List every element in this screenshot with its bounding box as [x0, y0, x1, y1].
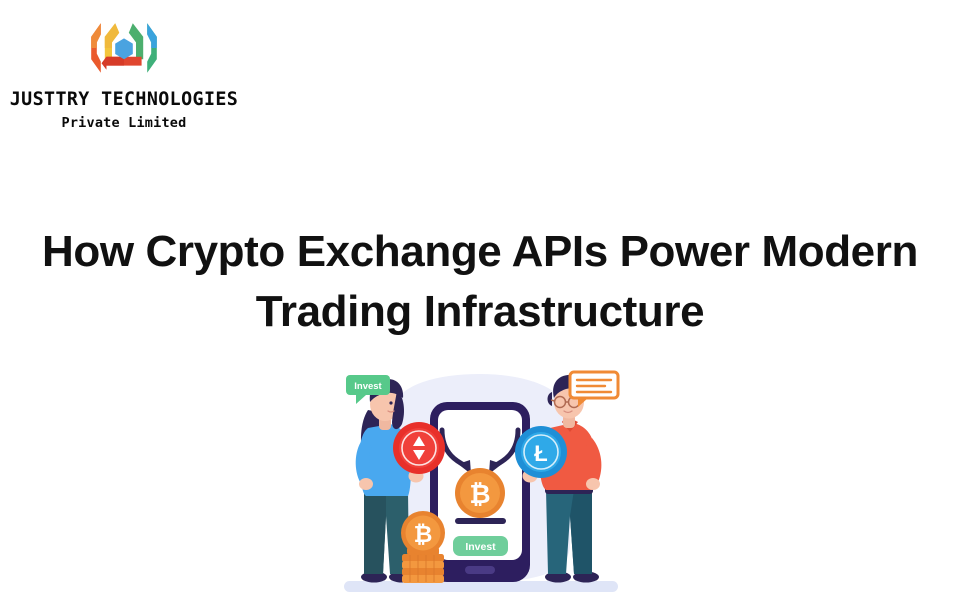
svg-text:₿: ₿ — [469, 479, 490, 509]
coin-platform — [455, 518, 506, 524]
svg-text:₿: ₿ — [414, 521, 433, 547]
bitcoin-coin-stack: ₿ — [401, 511, 445, 555]
bitcoin-coin-screen: ₿ — [455, 468, 505, 518]
invest-cta-button[interactable]: Invest — [453, 536, 508, 556]
article-header-page: JUSTTRY TECHNOLOGIES Private Limited How… — [0, 0, 960, 600]
invest-cta-label: Invest — [465, 541, 496, 553]
litecoin-coin: Ł — [515, 426, 567, 478]
crypto-exchange-illustration-svg: ₿ Invest — [334, 366, 626, 600]
page-title: How Crypto Exchange APIs Power Modern Tr… — [0, 222, 960, 342]
brand-name: JUSTTRY TECHNOLOGIES — [9, 90, 239, 110]
ground-bar — [344, 581, 618, 592]
crypto-exchange-illustration: ₿ Invest — [334, 366, 626, 600]
brand-subtitle: Private Limited — [8, 116, 240, 131]
ethereum-coin — [393, 422, 445, 474]
brand-logo-block[interactable]: JUSTTRY TECHNOLOGIES Private Limited — [8, 12, 240, 131]
invest-bubble-label: Invest — [354, 381, 382, 392]
justtry-hexagon-logo-icon — [80, 12, 168, 84]
home-indicator — [465, 566, 495, 574]
svg-text:Ł: Ł — [534, 441, 547, 466]
